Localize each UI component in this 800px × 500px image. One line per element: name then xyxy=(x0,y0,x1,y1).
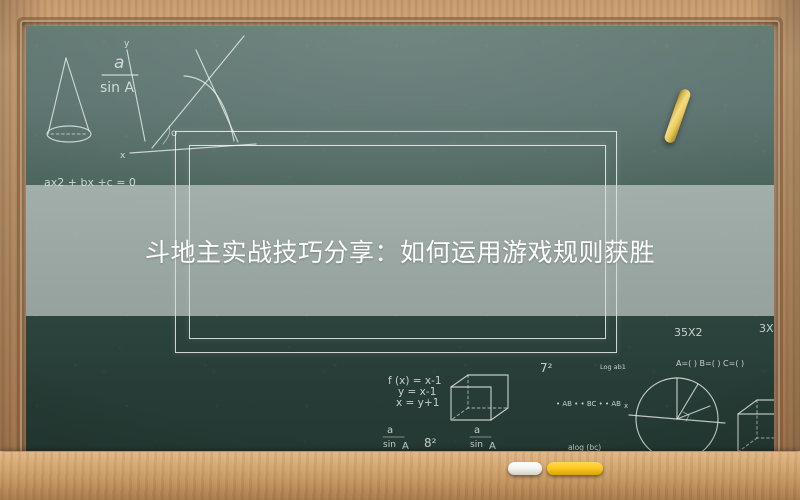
title-overlay-band: 斗地主实战技巧分享：如何运用游戏规则获胜 xyxy=(26,185,774,316)
svg-text:7²: 7² xyxy=(540,361,553,375)
svg-text:sin A: sin A xyxy=(100,80,135,96)
svg-text:f (x) = x-1: f (x) = x-1 xyxy=(388,375,442,387)
svg-text:• AB • • BC • • AB: • AB • • BC • • AB xyxy=(556,400,621,408)
svg-text:y: y xyxy=(124,39,130,49)
svg-text:a: a xyxy=(474,425,480,436)
ledge-chalk-yellow-stick xyxy=(547,462,603,475)
matrix-label-right: 3X2 xyxy=(759,322,774,335)
cone-diagram xyxy=(47,58,91,142)
cube-diagram-left xyxy=(451,375,508,420)
law-of-sines-fraction: a sin A xyxy=(100,53,138,96)
svg-text:sin: sin xyxy=(470,440,483,450)
svg-text:x = y+1: x = y+1 xyxy=(396,397,439,409)
svg-text:a: a xyxy=(387,425,393,436)
svg-text:x: x xyxy=(624,402,628,410)
log-label: Log ab1 xyxy=(600,363,626,371)
circle-radius-diagram: x xyxy=(624,378,725,456)
matrix-equation: A=( ) B=( ) C=( ) xyxy=(676,359,744,368)
matrix-label-left: 35X2 xyxy=(674,326,703,339)
svg-text:sin: sin xyxy=(383,440,396,450)
chalkboard-banner: a sin A y x o ax2 + bx +c = xyxy=(0,0,800,500)
svg-text:a: a xyxy=(114,53,124,73)
page-title: 斗地主实战技巧分享：如何运用游戏规则获胜 xyxy=(145,233,655,269)
chalk-ledge xyxy=(0,452,800,500)
svg-text:y = x-1: y = x-1 xyxy=(398,386,436,398)
cube-diagram-right xyxy=(738,400,774,452)
svg-text:x: x xyxy=(120,151,126,161)
ledge-chalk-white-stick xyxy=(508,462,542,475)
law-of-sines-small-2: a sin A xyxy=(470,425,496,452)
svg-text:8²: 8² xyxy=(424,436,437,450)
law-of-sines-small-1: a sin A xyxy=(383,425,409,452)
